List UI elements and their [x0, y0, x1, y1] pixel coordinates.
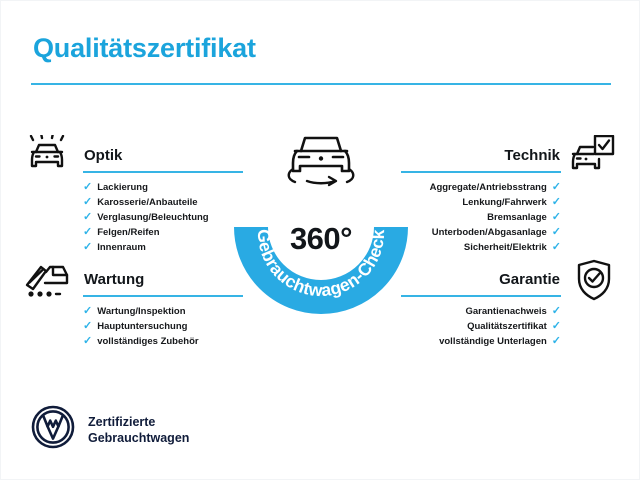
check-icon: ✓ [552, 182, 561, 193]
volkswagen-footer: Zertifizierte Gebrauchtwagen [31, 405, 189, 454]
list-item-label: Wartung/Inspektion [97, 304, 185, 319]
list-item-label: Bremsanlage [487, 210, 547, 225]
list-item-label: Aggregate/Antriebsstrang [430, 180, 547, 195]
footer-line-2: Gebrauchtwagen [88, 430, 189, 446]
certificate-page: Qualitätszertifikat [0, 0, 640, 480]
list-item-label: Felgen/Reifen [97, 225, 159, 240]
list-item-label: Verglasung/Beleuchtung [97, 210, 208, 225]
list-item-label: vollständiges Zubehör [97, 334, 198, 349]
list-item: Aggregate/Antriebsstrang✓ [401, 180, 561, 195]
check-icon: ✓ [552, 227, 561, 238]
list-item-label: Lenkung/Fahrwerk [462, 195, 546, 210]
page-title: Qualitätszertifikat [33, 33, 256, 64]
list-item: Garantienachweis✓ [401, 304, 561, 319]
list-item-label: Lackierung [97, 180, 148, 195]
check-icon: ✓ [83, 212, 92, 223]
section-optik-underline [83, 171, 243, 173]
check-icon: ✓ [552, 306, 561, 317]
section-wartung-header: Wartung [83, 271, 243, 297]
list-item: Qualitätszertifikat✓ [401, 319, 561, 334]
list-item: Bremsanlage✓ [401, 210, 561, 225]
car-rotation-icon [289, 138, 354, 185]
list-item-label: Sicherheit/Elektrik [464, 240, 547, 255]
section-wartung-title: Wartung [83, 271, 243, 289]
section-technik-header: Technik [401, 147, 561, 173]
list-item: ✓Karosserie/Anbauteile [83, 195, 243, 210]
list-item: ✓Wartung/Inspektion [83, 304, 243, 319]
check-icon: ✓ [83, 321, 92, 332]
section-optik: Optik ✓Lackierung ✓Karosserie/Anbauteile… [83, 147, 243, 255]
list-item: ✓Hauptuntersuchung [83, 319, 243, 334]
footer-line-1: Zertifizierte [88, 414, 189, 430]
check-icon: ✓ [552, 197, 561, 208]
section-optik-title: Optik [83, 147, 243, 165]
check-icon: ✓ [552, 242, 561, 253]
list-item-label: vollständige Unterlagen [439, 334, 547, 349]
section-garantie-title: Garantie [401, 271, 561, 289]
section-wartung-list: ✓Wartung/Inspektion ✓Hauptuntersuchung ✓… [83, 304, 243, 349]
360-gebrauchtwagen-check-badge: Gebrauchtwagen-Check 360° [227, 123, 415, 319]
list-item: ✓Verglasung/Beleuchtung [83, 210, 243, 225]
section-garantie-list: Garantienachweis✓ Qualitätszertifikat✓ v… [401, 304, 561, 349]
section-garantie-header: Garantie [401, 271, 561, 297]
list-item: ✓Innenraum [83, 240, 243, 255]
car-checkbox-icon [569, 135, 615, 180]
check-icon: ✓ [552, 336, 561, 347]
list-item-label: Hauptuntersuchung [97, 319, 187, 334]
check-icon: ✓ [552, 212, 561, 223]
section-technik-list: Aggregate/Antriebsstrang✓ Lenkung/Fahrwe… [401, 180, 561, 255]
check-icon: ✓ [83, 227, 92, 238]
car-shine-icon [25, 135, 69, 180]
check-icon: ✓ [83, 182, 92, 193]
section-garantie: Garantie Garantienachweis✓ Qualitätszert… [401, 271, 561, 349]
shield-check-icon [575, 259, 613, 306]
list-item: Sicherheit/Elektrik✓ [401, 240, 561, 255]
check-icon: ✓ [83, 197, 92, 208]
list-item: ✓Felgen/Reifen [83, 225, 243, 240]
list-item: ✓vollständiges Zubehör [83, 334, 243, 349]
list-item: Unterboden/Abgasanlage✓ [401, 225, 561, 240]
section-optik-header: Optik [83, 147, 243, 173]
section-technik-title: Technik [401, 147, 561, 165]
list-item-label: Innenraum [97, 240, 146, 255]
list-item: ✓Lackierung [83, 180, 243, 195]
section-optik-list: ✓Lackierung ✓Karosserie/Anbauteile ✓Verg… [83, 180, 243, 255]
check-icon: ✓ [552, 321, 561, 332]
section-wartung-underline [83, 295, 243, 297]
list-item: Lenkung/Fahrwerk✓ [401, 195, 561, 210]
title-divider [31, 83, 611, 85]
list-item: vollständige Unterlagen✓ [401, 334, 561, 349]
section-technik: Technik Aggregate/Antriebsstrang✓ Lenkun… [401, 147, 561, 255]
list-item-label: Qualitätszertifikat [467, 319, 547, 334]
badge-degrees-label: 360° [227, 221, 415, 257]
section-garantie-underline [401, 295, 561, 297]
car-service-tool-icon [23, 259, 71, 306]
section-technik-underline [401, 171, 561, 173]
check-icon: ✓ [83, 336, 92, 347]
volkswagen-logo [31, 405, 75, 454]
volkswagen-footer-text: Zertifizierte Gebrauchtwagen [88, 414, 189, 446]
list-item-label: Garantienachweis [465, 304, 546, 319]
list-item-label: Unterboden/Abgasanlage [432, 225, 547, 240]
section-wartung: Wartung ✓Wartung/Inspektion ✓Hauptunters… [83, 271, 243, 349]
check-icon: ✓ [83, 306, 92, 317]
check-icon: ✓ [83, 242, 92, 253]
list-item-label: Karosserie/Anbauteile [97, 195, 197, 210]
